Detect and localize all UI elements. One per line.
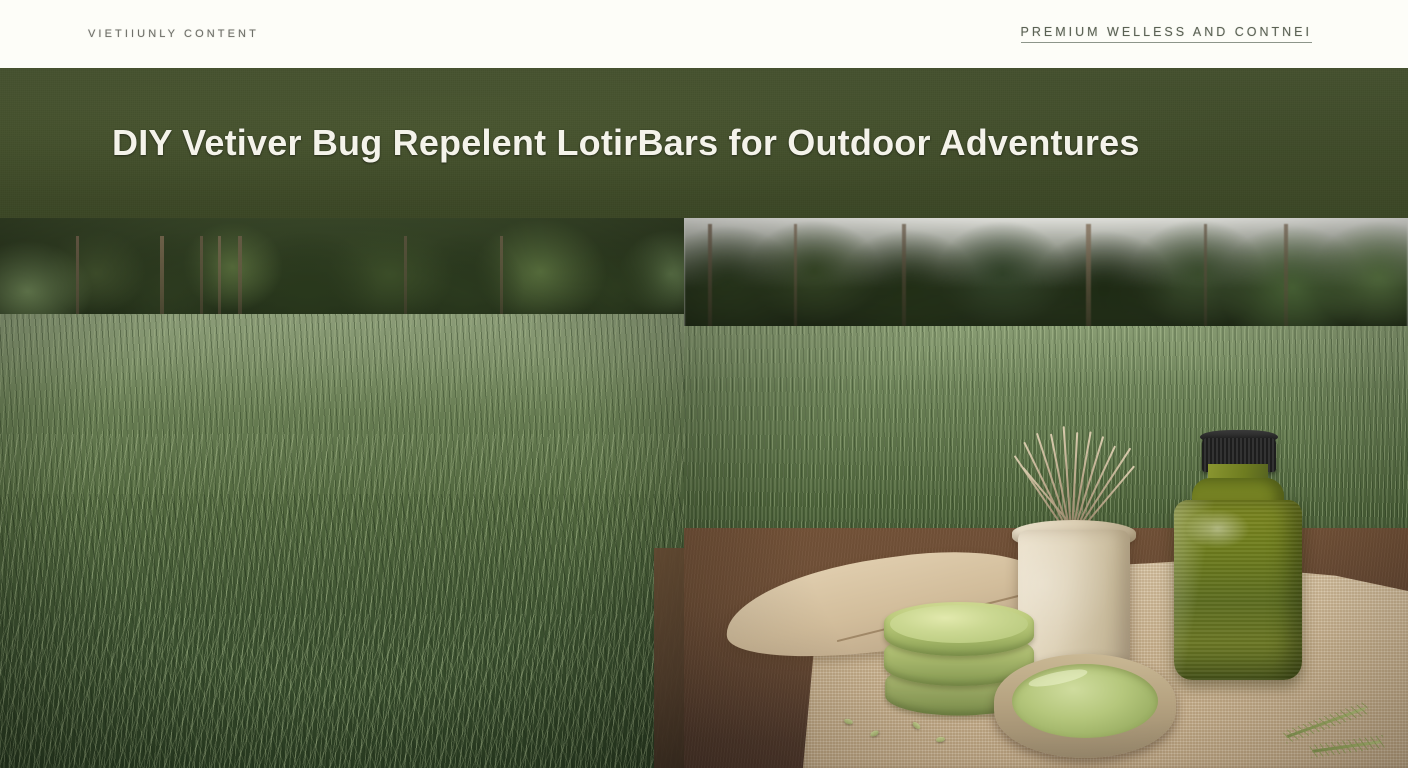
vetiver-grass-field [0,314,684,768]
kicker-right: PREMIUM WELLESS AND CONTNEI [1021,25,1312,43]
soap-bar [884,602,1034,656]
grass-blade-layer-1 [0,314,684,768]
photo-product-stilllife [684,218,1408,768]
page-root: VIETIIUNLY CONTENT PREMIUM WELLESS AND C… [0,0,1408,768]
green-oil-bottle [1174,500,1302,680]
grass-blade-layer-4 [0,494,684,768]
grass-blade-layer-3 [0,434,684,768]
title-banner: DIY Vetiver Bug Repelent LotirBars for O… [0,68,1408,218]
page-title: DIY Vetiver Bug Repelent LotirBars for O… [112,122,1140,164]
balm-dish [994,654,1176,758]
ceramic-jar [1018,530,1130,672]
photo-row [0,218,1408,768]
photo-vetiver-field [0,218,684,768]
soil-edge [654,548,684,768]
grass-blade-layer-5 [0,614,684,768]
grass-blade-layer-2 [0,314,684,768]
dried-vetiver-reeds [1028,422,1124,532]
grass-blade-layer-6 [0,644,684,768]
kicker-left: VIETIIUNLY CONTENT [88,28,259,40]
top-bar: VIETIIUNLY CONTENT PREMIUM WELLESS AND C… [0,0,1408,68]
soap-bar-top-face [890,605,1028,643]
balm-surface [1012,664,1158,738]
